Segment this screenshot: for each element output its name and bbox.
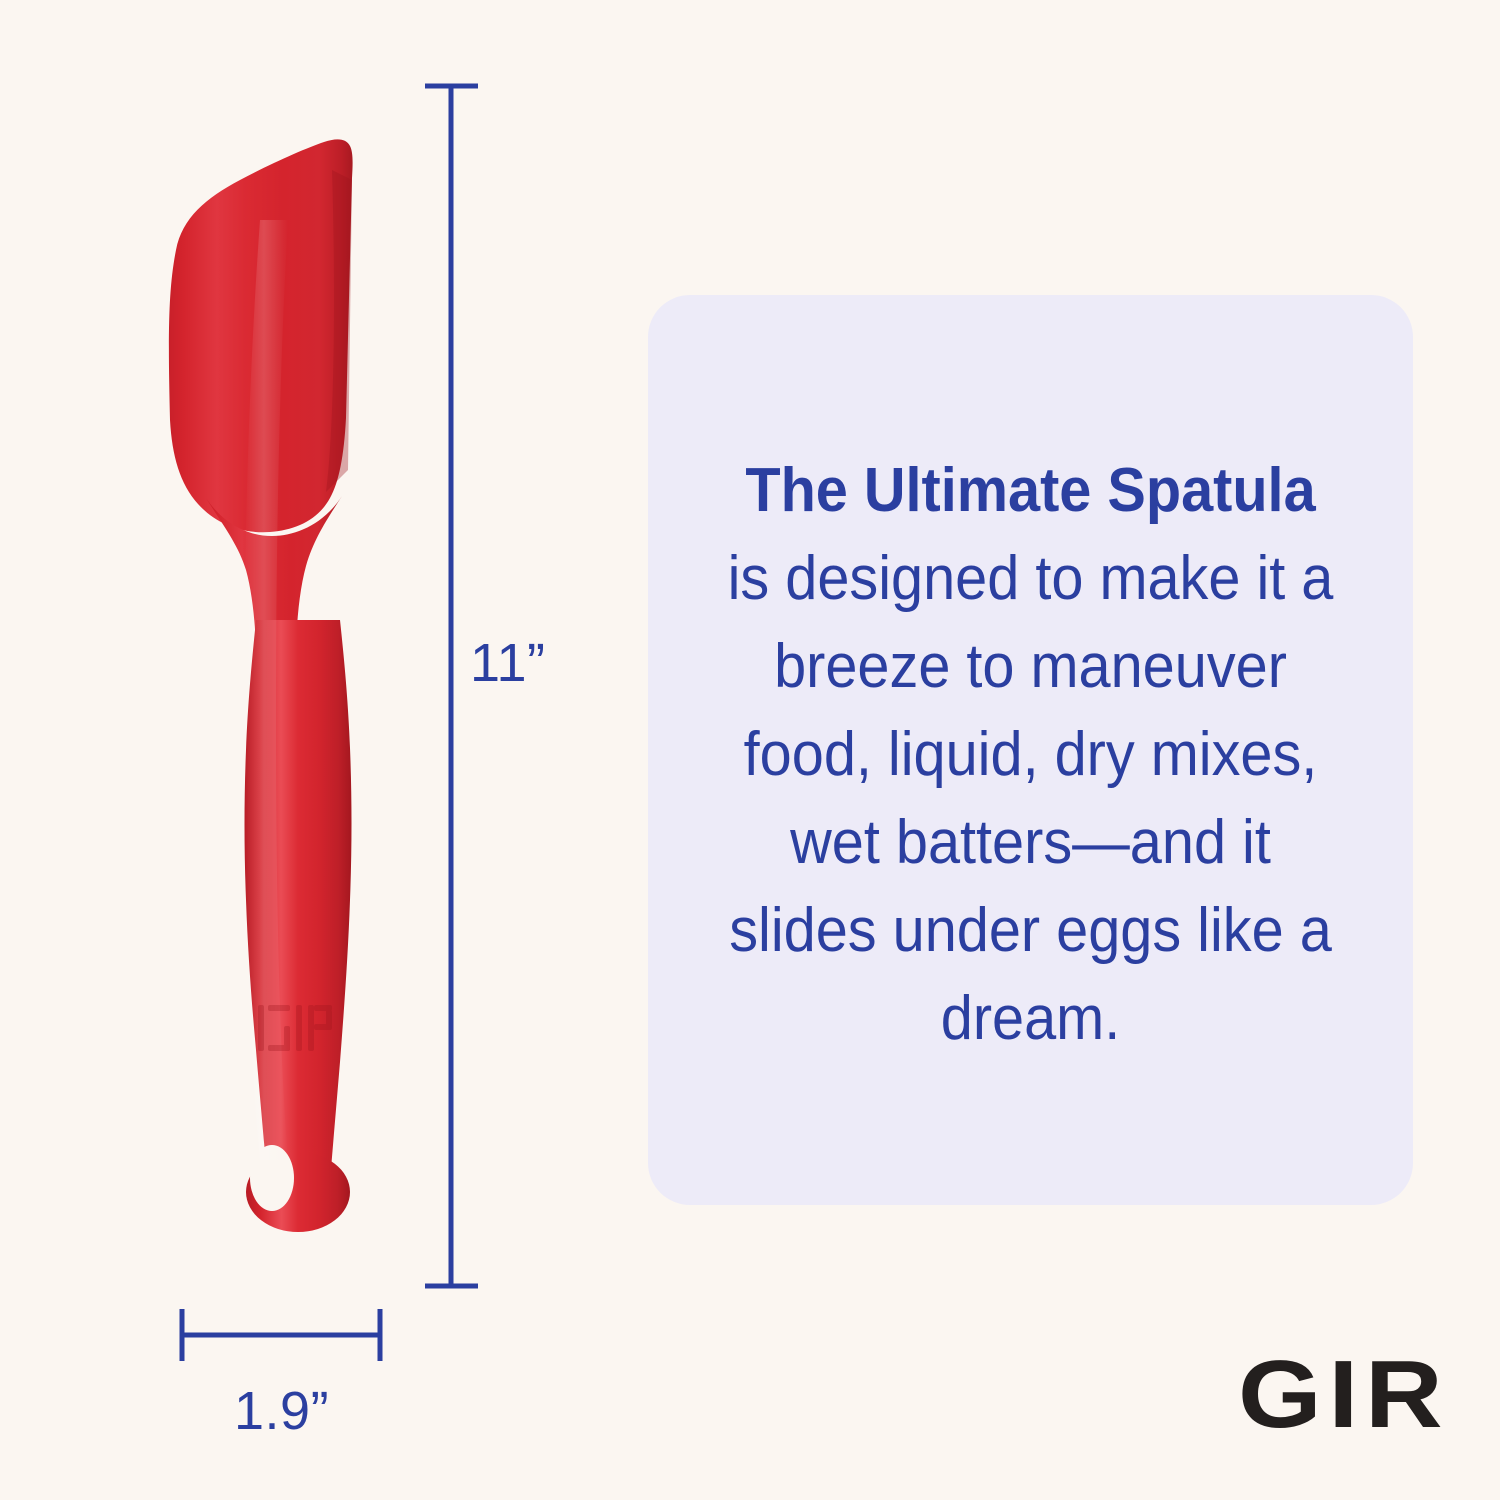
width-dimension-label: 1.9” [234, 1380, 329, 1442]
gir-brand-logo: GIR [1238, 1347, 1449, 1443]
width-dimension-line [160, 1300, 410, 1370]
description-card: The Ultimate Spatula is designed to make… [648, 295, 1413, 1205]
height-dimension-label: 11” [470, 632, 546, 694]
description-body: is designed to make it a breeze to maneu… [728, 544, 1334, 1053]
product-infographic: 11” 1.9” The Ultimate Spatula is designe… [0, 0, 1500, 1500]
spatula-product-image [110, 100, 450, 1280]
description-text: The Ultimate Spatula is designed to make… [719, 447, 1341, 1063]
description-headline: The Ultimate Spatula [745, 456, 1315, 525]
